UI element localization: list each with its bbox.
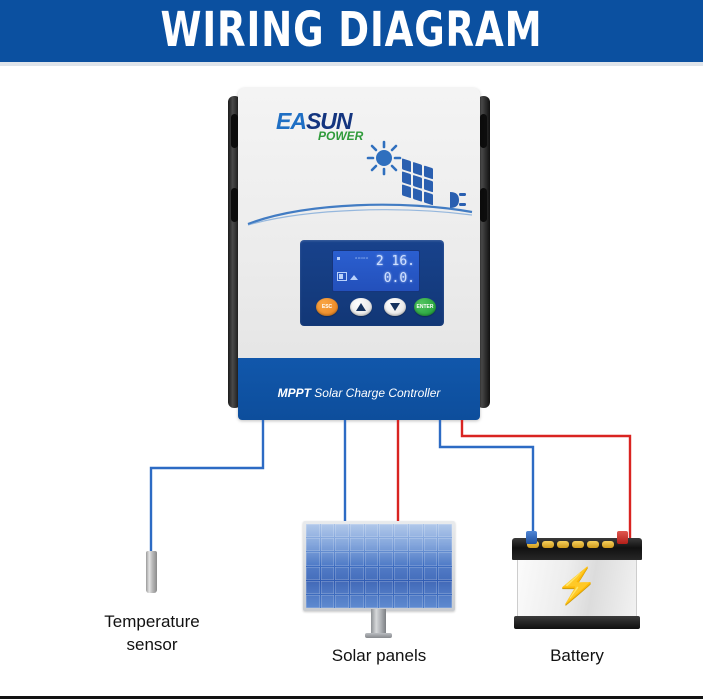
solar-panel-post-base [365, 633, 392, 638]
solar-cell [424, 567, 438, 580]
mppt-regular-text: Solar Charge Controller [311, 386, 440, 400]
solar-cell [409, 595, 423, 608]
solar-cell [409, 524, 423, 537]
solar-cell [365, 552, 379, 565]
temperature-sensor-probe [146, 551, 157, 593]
temperature-sensor-label-line2: sensor [71, 633, 233, 656]
solar-cell [335, 581, 349, 594]
solar-cell [379, 552, 393, 565]
solar-cell [409, 552, 423, 565]
solar-cell [335, 524, 349, 537]
lcd-battery-box-icon [337, 272, 347, 281]
wire-temperature-sensor [151, 420, 263, 553]
solar-cell [365, 538, 379, 551]
battery-cell-cap [572, 541, 584, 548]
solar-cell [409, 567, 423, 580]
header-banner: WIRING DIAGRAM [0, 0, 703, 62]
battery-positive-terminal [617, 531, 628, 544]
battery-cell-cap [557, 541, 569, 548]
solar-cell [438, 567, 452, 580]
wiring-diagram-page: WIRING DIAGRAM EASUN POWER [0, 0, 703, 699]
solar-cell [350, 552, 364, 565]
enter-button[interactable]: ENTER [414, 298, 436, 316]
solar-cell [394, 567, 408, 580]
down-button[interactable] [384, 298, 406, 316]
solar-cell [350, 538, 364, 551]
easun-power-logo: EASUN POWER [276, 110, 363, 144]
solar-cell [394, 595, 408, 608]
solar-cell [379, 567, 393, 580]
solar-cell [321, 595, 335, 608]
temperature-sensor-label: Temperature sensor [71, 610, 233, 656]
solar-cell [321, 567, 335, 580]
mppt-bold-text: MPPT [278, 386, 311, 400]
solar-cell [365, 581, 379, 594]
solar-cell [306, 538, 320, 551]
solar-cell [365, 524, 379, 537]
solar-panels-label: Solar panels [298, 646, 460, 666]
solar-cell [335, 538, 349, 551]
temperature-sensor [146, 551, 157, 593]
solar-cell [438, 538, 452, 551]
solar-panel-post [371, 609, 386, 635]
solar-cell [306, 567, 320, 580]
battery-base [514, 616, 640, 629]
solar-cell [321, 581, 335, 594]
solar-cell [306, 595, 320, 608]
solar-cell [438, 595, 452, 608]
solar-cell [379, 581, 393, 594]
solar-cell [379, 538, 393, 551]
heatsink-notch [480, 188, 487, 222]
controller-body: EASUN POWER [238, 88, 480, 420]
battery-label: Battery [496, 646, 658, 666]
solar-cell [379, 524, 393, 537]
header-underline [0, 62, 703, 66]
swoosh-curve [246, 198, 474, 228]
solar-cell [394, 552, 408, 565]
solar-panel [303, 521, 455, 639]
lcd-screen: ooooo 2 16. 0.0. [332, 250, 420, 292]
brand-power-text: POWER [318, 130, 363, 142]
esc-button[interactable]: ESC [316, 298, 338, 316]
temperature-sensor-label-line1: Temperature [71, 610, 233, 633]
battery: ⚡ [512, 530, 642, 640]
solar-cell [424, 595, 438, 608]
solar-cell [321, 538, 335, 551]
solar-cell [335, 567, 349, 580]
solar-cell [394, 524, 408, 537]
solar-cell [350, 581, 364, 594]
heatsink-notch [480, 114, 487, 148]
mppt-label-band: MPPT Solar Charge Controller [238, 358, 480, 420]
page-title: WIRING DIAGRAM [49, 0, 654, 62]
solar-panel-frame [303, 521, 455, 611]
solar-cell [424, 524, 438, 537]
solar-cell [409, 538, 423, 551]
solar-cell [306, 552, 320, 565]
wire-battery-positive [462, 420, 630, 540]
lcd-tiny-label: ooooo [355, 255, 369, 260]
lightning-bolt-icon: ⚡ [518, 569, 636, 603]
lcd-panel: ooooo 2 16. 0.0. ESC ENTER [300, 240, 444, 326]
solar-cell [424, 581, 438, 594]
solar-cell [438, 581, 452, 594]
solar-panel-cells [306, 524, 452, 608]
solar-cell [365, 567, 379, 580]
battery-negative-terminal [526, 531, 537, 544]
lcd-signal-dot-icon [337, 257, 340, 260]
solar-cell [350, 524, 364, 537]
solar-cell [365, 595, 379, 608]
solar-cell [350, 595, 364, 608]
triangle-up-icon [356, 303, 366, 311]
solar-cell [394, 538, 408, 551]
solar-cell [335, 595, 349, 608]
solar-cell [438, 524, 452, 537]
battery-cell-cap [542, 541, 554, 548]
solar-cell [394, 581, 408, 594]
lcd-value-top: 2 16. [376, 255, 415, 268]
solar-cell [424, 538, 438, 551]
solar-cell [424, 552, 438, 565]
battery-cell-cap [602, 541, 614, 548]
heatsink-notch [231, 188, 238, 222]
up-button[interactable] [350, 298, 372, 316]
lcd-value-bottom: 0.0. [384, 272, 415, 285]
solar-cell [335, 552, 349, 565]
solar-cell [409, 581, 423, 594]
heatsink-notch [231, 114, 238, 148]
battery-cell-cap [587, 541, 599, 548]
solar-cell [321, 552, 335, 565]
triangle-down-icon [390, 303, 400, 311]
brand-ea-text: EA [276, 108, 306, 134]
lcd-triangle-marker-icon [350, 275, 358, 280]
mppt-band-text: MPPT Solar Charge Controller [238, 386, 480, 400]
solar-cell [438, 552, 452, 565]
battery-body: ⚡ [517, 558, 637, 618]
solar-cell [306, 524, 320, 537]
solar-cell [306, 581, 320, 594]
solar-cell [321, 524, 335, 537]
mppt-controller: EASUN POWER [228, 88, 490, 420]
solar-cell [350, 567, 364, 580]
solar-cell [379, 595, 393, 608]
sun-icon [368, 142, 400, 174]
